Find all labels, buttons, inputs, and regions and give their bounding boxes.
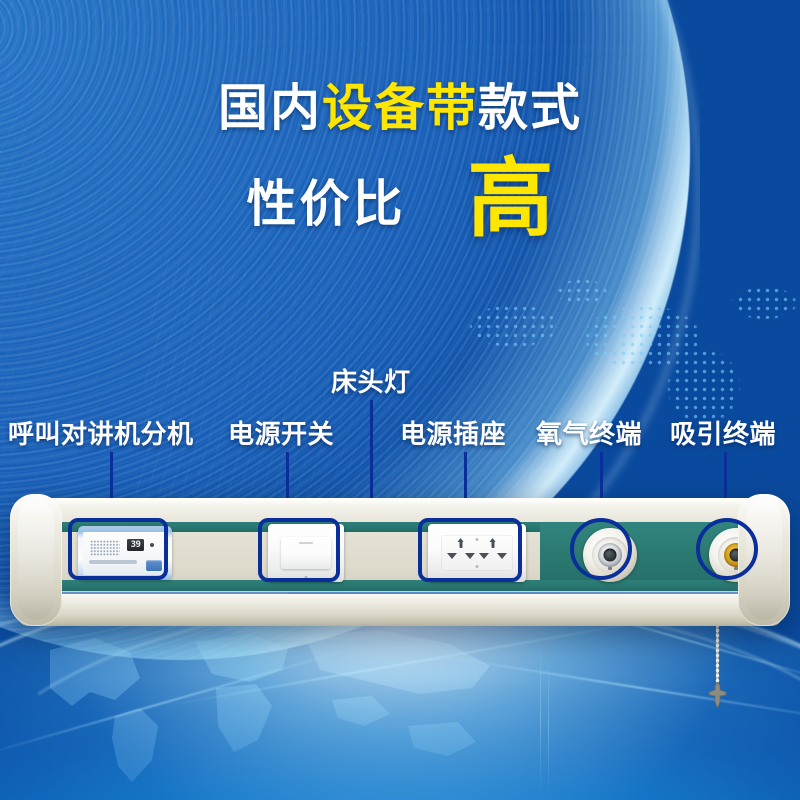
rocker-toggle[interactable] <box>281 537 331 569</box>
socket-pin-left-icon <box>447 553 457 559</box>
switch-screw <box>305 576 308 579</box>
socket-faceplate <box>441 535 513 571</box>
callout-label-suction-terminal: 吸引终端 <box>670 414 776 451</box>
oxygen-terminal[interactable] <box>583 528 637 582</box>
callout-label-bed-lamp: 床头灯 <box>331 362 411 399</box>
socket-pin-left-icon <box>479 553 489 559</box>
panel-endcap-left <box>10 494 62 626</box>
callout-label-power-switch: 电源开关 <box>228 414 334 451</box>
callout-label-intercom: 呼叫对讲机分机 <box>8 414 194 451</box>
rocker-mark <box>299 542 313 544</box>
intercom-display: 39 <box>127 539 144 551</box>
panel-endcap-right <box>738 494 790 626</box>
socket-outlet-right[interactable] <box>478 540 508 566</box>
intercom-call-button[interactable] <box>146 560 162 571</box>
speaker-grille-icon <box>90 540 120 556</box>
oxygen-port-icon <box>604 549 617 562</box>
bed-head-unit-panel: 39 <box>16 498 784 638</box>
panel-front-lip <box>16 594 784 626</box>
intercom-slot <box>89 560 137 564</box>
callout-group: 呼叫对讲机分机 电源开关 床头灯 电源插座 氧气终端 吸引终端 <box>0 0 800 800</box>
socket-outlet-left[interactable] <box>446 540 476 566</box>
socket-pin-top-icon <box>492 540 495 548</box>
oxygen-marking <box>608 567 612 570</box>
power-switch[interactable] <box>268 524 344 582</box>
socket-pin-right-icon <box>465 553 475 559</box>
socket-pin-right-icon <box>497 553 507 559</box>
power-socket-outlet[interactable] <box>428 524 526 582</box>
panel-stripe-bottom <box>16 580 784 591</box>
callout-label-oxygen-terminal: 氧气终端 <box>536 414 642 451</box>
promo-banner: 国内设备带款式 性价比 高 呼叫对讲机分机 电源开关 床头灯 电源插座 氧气终端… <box>0 0 800 800</box>
oxygen-core <box>598 543 622 567</box>
socket-pin-top-icon <box>460 540 463 548</box>
nurse-call-intercom[interactable]: 39 <box>78 526 172 580</box>
status-led-icon <box>150 543 154 547</box>
callout-label-power-socket: 电源插座 <box>400 414 506 451</box>
socket-screw-bottom <box>476 565 479 568</box>
intercom-faceplate: 39 <box>83 532 167 575</box>
pull-cord-toggle-icon[interactable] <box>708 682 727 708</box>
